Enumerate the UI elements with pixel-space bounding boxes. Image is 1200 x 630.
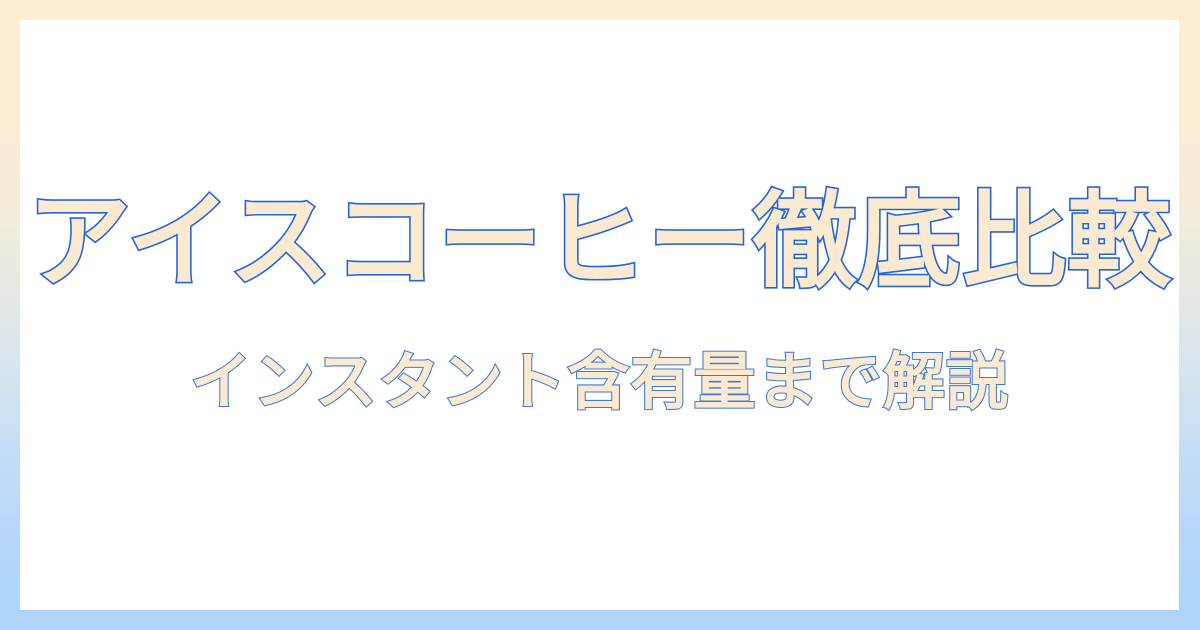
banner-headline: アイスコーヒー徹底比較 [20,186,1179,296]
banner-gradient-frame: アイスコーヒー徹底比較 インスタント含有量まで解説 [0,0,1200,630]
banner-text-stack: アイスコーヒー徹底比較 インスタント含有量まで解説 [20,186,1179,415]
banner-white-card: アイスコーヒー徹底比較 インスタント含有量まで解説 [20,20,1179,610]
banner-subtitle: インスタント含有量まで解説 [20,349,1179,416]
